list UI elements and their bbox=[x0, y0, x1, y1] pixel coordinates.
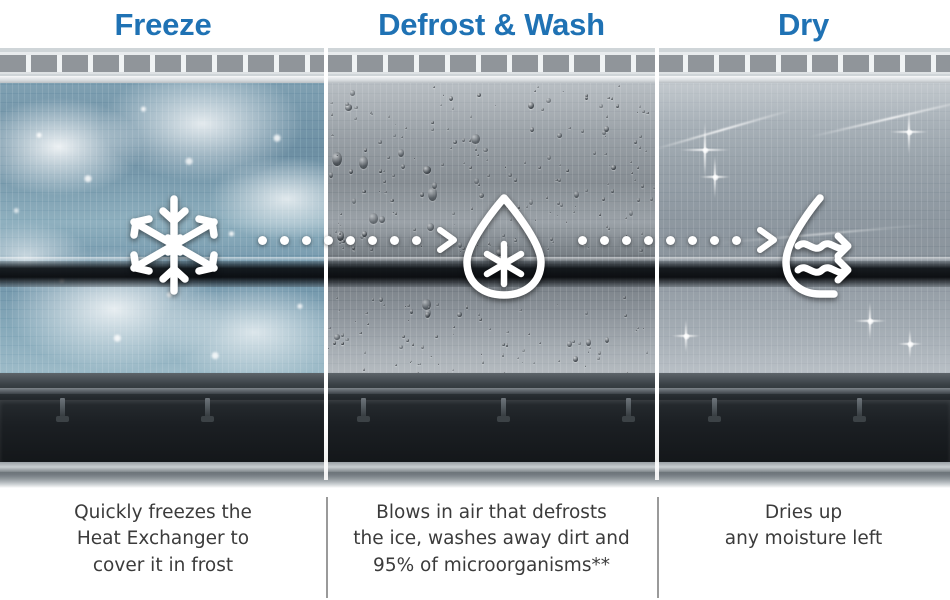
caption-line: Quickly freezes the bbox=[74, 500, 252, 526]
arrow-dot bbox=[390, 236, 399, 245]
arrow-dot bbox=[302, 236, 311, 245]
snowflake-icon bbox=[122, 191, 226, 304]
heading-freeze: Freeze bbox=[0, 0, 326, 48]
arrow-dot bbox=[732, 236, 741, 245]
caption-defrost-wash: Blows in air that defrosts the ice, wash… bbox=[326, 500, 657, 579]
connector-arrow-2 bbox=[578, 227, 778, 253]
caption-line: cover it in frost bbox=[93, 553, 233, 579]
captions-row: Quickly freezes the Heat Exchanger to co… bbox=[0, 488, 950, 600]
caption-freeze: Quickly freezes the Heat Exchanger to co… bbox=[0, 500, 326, 579]
chevron-right-icon bbox=[756, 227, 778, 253]
arrow-dot bbox=[324, 236, 333, 245]
arrow-dot bbox=[412, 236, 421, 245]
caption-divider-2 bbox=[657, 497, 659, 598]
headings-row: Freeze Defrost & Wash Dry bbox=[0, 0, 950, 48]
caption-line: the ice, washes away dirt and bbox=[353, 526, 630, 552]
arrow-dot bbox=[644, 236, 653, 245]
arrow-dot bbox=[666, 236, 675, 245]
arrow-dot bbox=[258, 236, 267, 245]
chevron-right-icon bbox=[436, 227, 458, 253]
arrow-dot bbox=[346, 236, 355, 245]
arrow-dot bbox=[600, 236, 609, 245]
caption-line: any moisture left bbox=[725, 526, 882, 552]
caption-divider-1 bbox=[326, 497, 328, 598]
caption-line: Dries up bbox=[765, 500, 842, 526]
caption-line: Heat Exchanger to bbox=[77, 526, 249, 552]
caption-dry: Dries up any moisture left bbox=[657, 500, 950, 553]
infographic-stage: Freeze Defrost & Wash Dry bbox=[0, 0, 950, 600]
connector-arrow-1 bbox=[258, 227, 458, 253]
arrow-dot bbox=[688, 236, 697, 245]
caption-line: Blows in air that defrosts bbox=[376, 500, 607, 526]
water-drop-airflow-icon bbox=[764, 188, 874, 307]
water-drop-snowflake-icon bbox=[455, 190, 553, 307]
arrow-dot bbox=[368, 236, 377, 245]
arrow-dot bbox=[622, 236, 631, 245]
icons-overlay bbox=[0, 48, 950, 488]
arrow-dot bbox=[710, 236, 719, 245]
heading-defrost-wash: Defrost & Wash bbox=[326, 0, 657, 48]
arrow-dot bbox=[280, 236, 289, 245]
arrow-dot bbox=[578, 236, 587, 245]
caption-line: 95% of microorganisms** bbox=[373, 553, 610, 579]
heading-dry: Dry bbox=[657, 0, 950, 48]
